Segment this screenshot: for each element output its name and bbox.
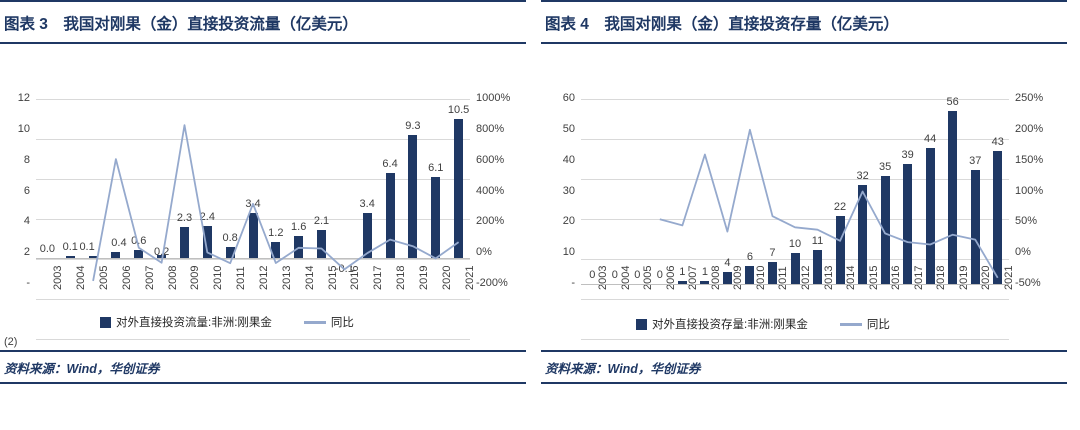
line-series	[541, 44, 1067, 344]
figure-3-panel: 图表 3 我国对刚果（金）直接投资流量（亿美元） (2) -24681012-2…	[0, 0, 526, 430]
figure-4-title-bar: 图表 4 我国对刚果（金）直接投资存量（亿美元）	[541, 0, 1067, 42]
figure-3-source: 资料来源：Wind，华创证券	[0, 352, 526, 377]
legend-line-label: 同比	[867, 316, 890, 332]
figure-4-panel: 图表 4 我国对刚果（金）直接投资存量（亿美元） -102030405060-5…	[541, 0, 1067, 430]
title-top-rule	[541, 0, 1067, 2]
figure-4-title: 图表 4 我国对刚果（金）直接投资存量（亿美元）	[545, 12, 1067, 34]
chart-legend: 对外直接投资流量:非洲:刚果金同比	[100, 314, 354, 330]
chart-legend: 对外直接投资存量:非洲:刚果金同比	[636, 316, 890, 332]
figure-3-chart: (2) -24681012-200%0%200%400%600%800%1000…	[0, 44, 526, 344]
line-series	[0, 44, 526, 344]
figure-4-chart: -102030405060-50%0%50%100%150%200%250%02…	[541, 44, 1067, 344]
legend-bar-swatch	[636, 319, 647, 330]
figure-3-title-bar: 图表 3 我国对刚果（金）直接投资流量（亿美元）	[0, 0, 526, 42]
legend-bar-swatch	[100, 317, 111, 328]
figure-3-footer-rule	[0, 382, 526, 384]
figure-4-footer-rule	[541, 382, 1067, 384]
legend-line-swatch	[840, 323, 862, 326]
figure-3-title: 图表 3 我国对刚果（金）直接投资流量（亿美元）	[4, 12, 526, 34]
figures-page: 图表 3 我国对刚果（金）直接投资流量（亿美元） (2) -24681012-2…	[0, 0, 1080, 430]
legend-bar-label: 对外直接投资流量:非洲:刚果金	[116, 314, 272, 330]
legend-line-swatch	[304, 321, 326, 324]
figure-4-source: 资料来源：Wind，华创证券	[541, 352, 1067, 377]
title-top-rule	[0, 0, 526, 2]
legend-line-label: 同比	[331, 314, 354, 330]
legend-bar-label: 对外直接投资存量:非洲:刚果金	[652, 316, 808, 332]
